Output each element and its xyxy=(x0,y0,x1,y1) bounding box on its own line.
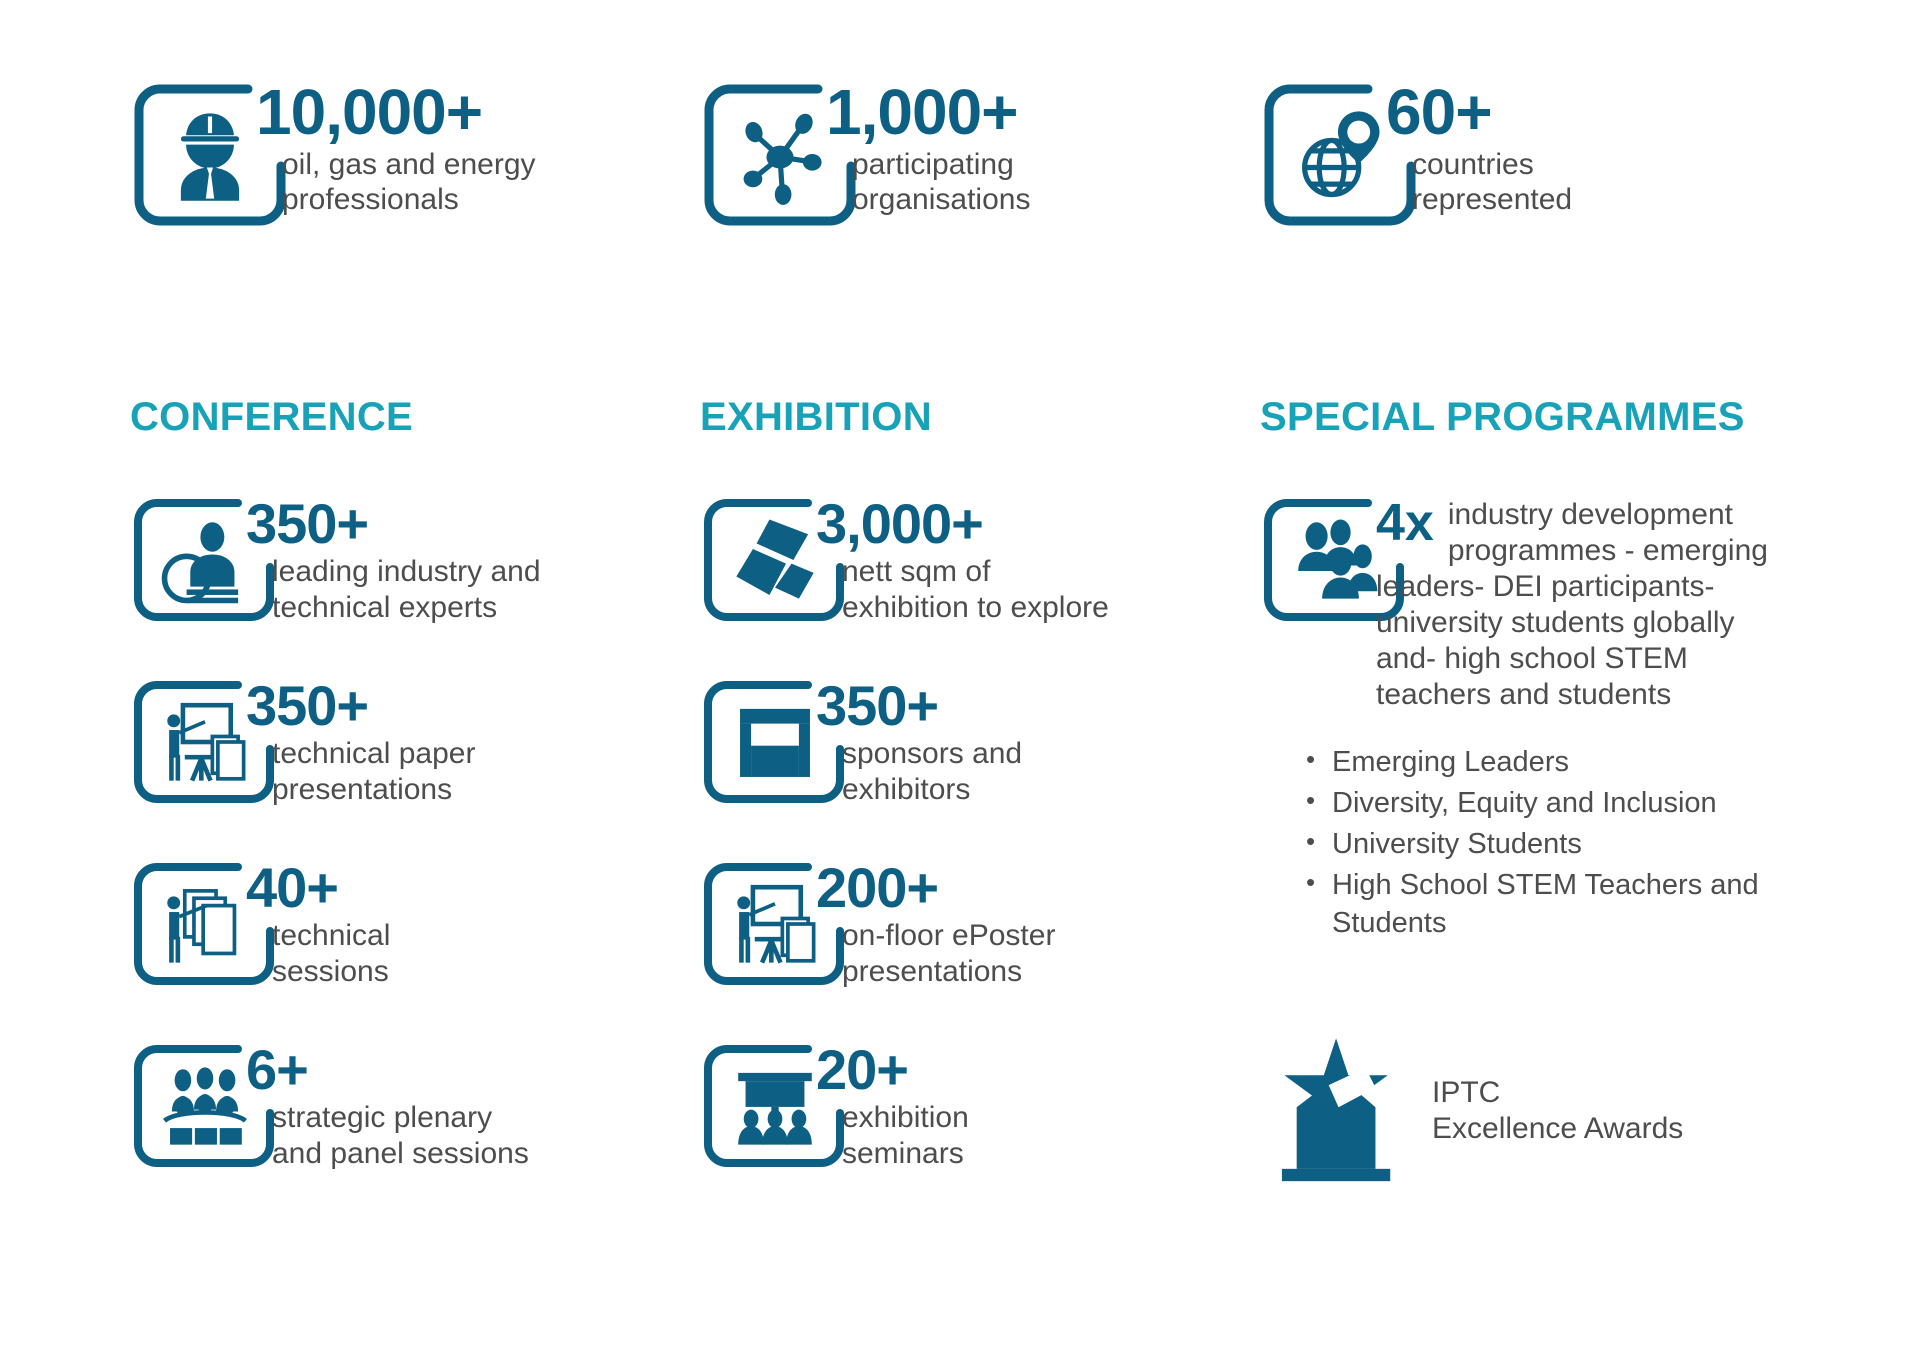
iptc-excellence-awards: IPTC Excellence Awards xyxy=(1276,1031,1880,1191)
globe-pin-icon xyxy=(1288,103,1392,207)
stat-plenary-sessions: 6+ strategic plenary and panel sessions xyxy=(130,1041,700,1171)
award-label: IPTC Excellence Awards xyxy=(1432,1075,1683,1148)
stat-text: 20+ exhibition seminars xyxy=(816,1041,969,1171)
hero-stat-professionals: 10,000+ oil, gas and energy professional… xyxy=(130,80,700,230)
person-documents-icon xyxy=(159,878,251,970)
column-conference: 350+ leading industry and technical expe… xyxy=(130,495,700,1191)
column-special-programmes: 4xindustry development programmes - emer… xyxy=(1260,495,1880,1191)
stat-number: 6+ xyxy=(246,1043,529,1096)
seminar-screen-audience-icon xyxy=(729,1060,821,1152)
stat-number: 350+ xyxy=(816,679,1022,732)
exhibition-booth-icon xyxy=(729,696,821,788)
stat-label: sponsors and exhibitors xyxy=(816,736,1022,807)
speaker-podium-icon xyxy=(159,514,251,606)
section-title-exhibition: EXHIBITION xyxy=(700,395,1260,440)
stat-label: technical paper presentations xyxy=(246,736,475,807)
stat-number: 40+ xyxy=(246,861,390,914)
star-trophy-icon xyxy=(1276,1031,1406,1191)
stat-label: countries represented xyxy=(1386,147,1572,218)
hero-stat-organisations: 1,000+ participating organisations xyxy=(700,80,1260,230)
stat-number: 20+ xyxy=(816,1043,969,1096)
stat-text: 350+ leading industry and technical expe… xyxy=(246,495,541,625)
feature-description: industry development programmes - emergi… xyxy=(1376,498,1768,711)
stat-technical-papers: 350+ technical paper presentations xyxy=(130,677,700,807)
stat-label: strategic plenary and panel sessions xyxy=(246,1100,529,1171)
stat-number: 200+ xyxy=(816,861,1055,914)
stat-number: 60+ xyxy=(1386,82,1572,143)
floorplan-tiles-icon xyxy=(729,514,821,606)
stat-leading-experts: 350+ leading industry and technical expe… xyxy=(130,495,700,625)
stat-label: technical sessions xyxy=(246,918,390,989)
stat-text: 60+ countries represented xyxy=(1386,80,1572,218)
panel-audience-icon xyxy=(159,1060,251,1152)
stat-text: 6+ strategic plenary and panel sessions xyxy=(246,1041,529,1171)
section-headings-row: CONFERENCE EXHIBITION SPECIAL PROGRAMMES xyxy=(130,395,1880,440)
section-title-special-programmes: SPECIAL PROGRAMMES xyxy=(1260,395,1880,440)
list-item: High School STEM Teachers and Students xyxy=(1306,866,1786,944)
hero-stats-row: 10,000+ oil, gas and energy professional… xyxy=(130,80,1880,230)
stat-label: leading industry and technical experts xyxy=(246,554,541,625)
stat-label: exhibition seminars xyxy=(816,1100,969,1171)
list-item: Emerging Leaders xyxy=(1306,743,1786,782)
stat-label: participating organisations xyxy=(826,147,1030,218)
stat-number: 10,000+ xyxy=(256,82,536,143)
stat-number: 350+ xyxy=(246,497,541,550)
stat-number: 3,000+ xyxy=(816,497,1109,550)
stat-industry-development-programmes: 4xindustry development programmes - emer… xyxy=(1260,495,1880,713)
stat-label: oil, gas and energy professionals xyxy=(256,147,536,218)
stat-number: 350+ xyxy=(246,679,475,732)
presenter-whiteboard-papers-icon xyxy=(159,696,251,788)
stat-sponsors-exhibitors: 350+ sponsors and exhibitors xyxy=(700,677,1260,807)
group-people-icon xyxy=(1289,514,1381,606)
stat-nett-sqm: 3,000+ nett sqm of exhibition to explore xyxy=(700,495,1260,625)
stat-text: 10,000+ oil, gas and energy professional… xyxy=(256,80,536,218)
body-columns: 350+ leading industry and technical expe… xyxy=(130,495,1880,1191)
special-programmes-bullet-list: Emerging Leaders Diversity, Equity and I… xyxy=(1306,743,1786,945)
stat-text: 200+ on-floor ePoster presentations xyxy=(816,859,1055,989)
stat-number: 1,000+ xyxy=(826,82,1030,143)
stat-technical-sessions: 40+ technical sessions xyxy=(130,859,700,989)
stat-text: 3,000+ nett sqm of exhibition to explore xyxy=(816,495,1109,625)
stat-label: on-floor ePoster presentations xyxy=(816,918,1055,989)
stat-text: 4xindustry development programmes - emer… xyxy=(1376,495,1776,713)
feature-description-block: 4xindustry development programmes - emer… xyxy=(1376,497,1776,713)
stat-text: 1,000+ participating organisations xyxy=(826,80,1030,218)
section-title-conference: CONFERENCE xyxy=(130,395,700,440)
network-nodes-icon xyxy=(728,103,832,207)
stat-eposter-presentations: 200+ on-floor ePoster presentations xyxy=(700,859,1260,989)
stat-label: nett sqm of exhibition to explore xyxy=(816,554,1109,625)
presenter-whiteboard-papers-icon xyxy=(729,878,821,970)
list-item: Diversity, Equity and Inclusion xyxy=(1306,784,1786,823)
list-item: University Students xyxy=(1306,825,1786,864)
stat-text: 350+ technical paper presentations xyxy=(246,677,475,807)
stat-exhibition-seminars: 20+ exhibition seminars xyxy=(700,1041,1260,1171)
stat-text: 40+ technical sessions xyxy=(246,859,390,989)
hardhat-worker-icon xyxy=(158,103,262,207)
stat-text: 350+ sponsors and exhibitors xyxy=(816,677,1022,807)
hero-stat-countries: 60+ countries represented xyxy=(1260,80,1880,230)
infographic-page: 10,000+ oil, gas and energy professional… xyxy=(0,0,1920,1371)
stat-number: 4x xyxy=(1376,497,1434,549)
column-exhibition: 3,000+ nett sqm of exhibition to explore xyxy=(700,495,1260,1191)
